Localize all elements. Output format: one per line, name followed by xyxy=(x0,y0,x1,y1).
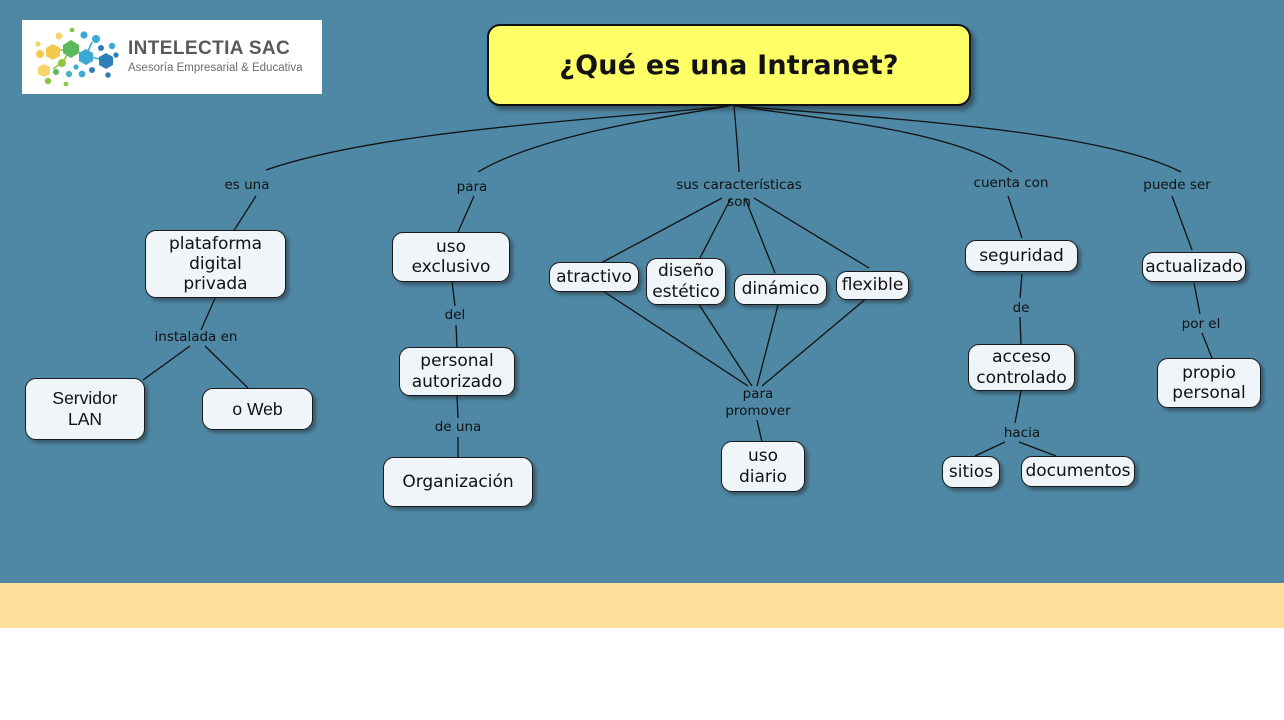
node-personal-autorizado[interactable]: personal autorizado xyxy=(399,347,515,396)
page-bottom-area xyxy=(0,628,1284,720)
node-documentos[interactable]: documentos xyxy=(1021,456,1135,487)
node-o-web[interactable]: o Web xyxy=(202,388,313,430)
concept-map-canvas: INTELECTIA SAC Asesoría Empresarial & Ed… xyxy=(0,0,1284,720)
node-organizacion[interactable]: Organización xyxy=(383,457,533,507)
node-sitios[interactable]: sitios xyxy=(942,456,1000,488)
node-servidor-lan[interactable]: Servidor LAN xyxy=(25,378,145,440)
root-node-title[interactable]: ¿Qué es una Intranet? xyxy=(487,24,971,106)
link-label-es-una: es una xyxy=(224,177,269,194)
link-label-instalada-en: instalada en xyxy=(155,329,238,346)
node-acceso-controlado[interactable]: acceso controlado xyxy=(968,344,1075,391)
link-label-de-una: de una xyxy=(435,419,482,436)
link-label-puede-ser: puede ser xyxy=(1143,177,1211,194)
bottom-accent-strip xyxy=(0,583,1284,628)
link-label-para: para xyxy=(457,179,488,196)
node-uso-diario[interactable]: uso diario xyxy=(721,441,805,492)
node-actualizado[interactable]: actualizado xyxy=(1142,252,1246,282)
node-dinamico[interactable]: dinámico xyxy=(734,274,827,305)
link-label-sus-caracteristicas-son: sus características son xyxy=(676,177,802,212)
link-label-hacia: hacia xyxy=(1004,425,1040,442)
node-seguridad[interactable]: seguridad xyxy=(965,240,1078,272)
node-propio-personal[interactable]: propio personal xyxy=(1157,358,1261,408)
node-uso-exclusivo[interactable]: uso exclusivo xyxy=(392,232,510,282)
link-label-cuenta-con: cuenta con xyxy=(974,175,1049,192)
link-label-de: de xyxy=(1013,300,1030,317)
node-flexible[interactable]: flexible xyxy=(836,271,909,300)
node-plataforma-digital-privada[interactable]: plataforma digital privada xyxy=(145,230,286,298)
link-label-del: del xyxy=(445,307,466,324)
node-atractivo[interactable]: atractivo xyxy=(549,262,639,292)
node-diseno-estetico[interactable]: diseño estético xyxy=(646,258,726,305)
link-label-por-el: por el xyxy=(1182,316,1221,333)
link-label-para-promover: para promover xyxy=(725,386,790,421)
